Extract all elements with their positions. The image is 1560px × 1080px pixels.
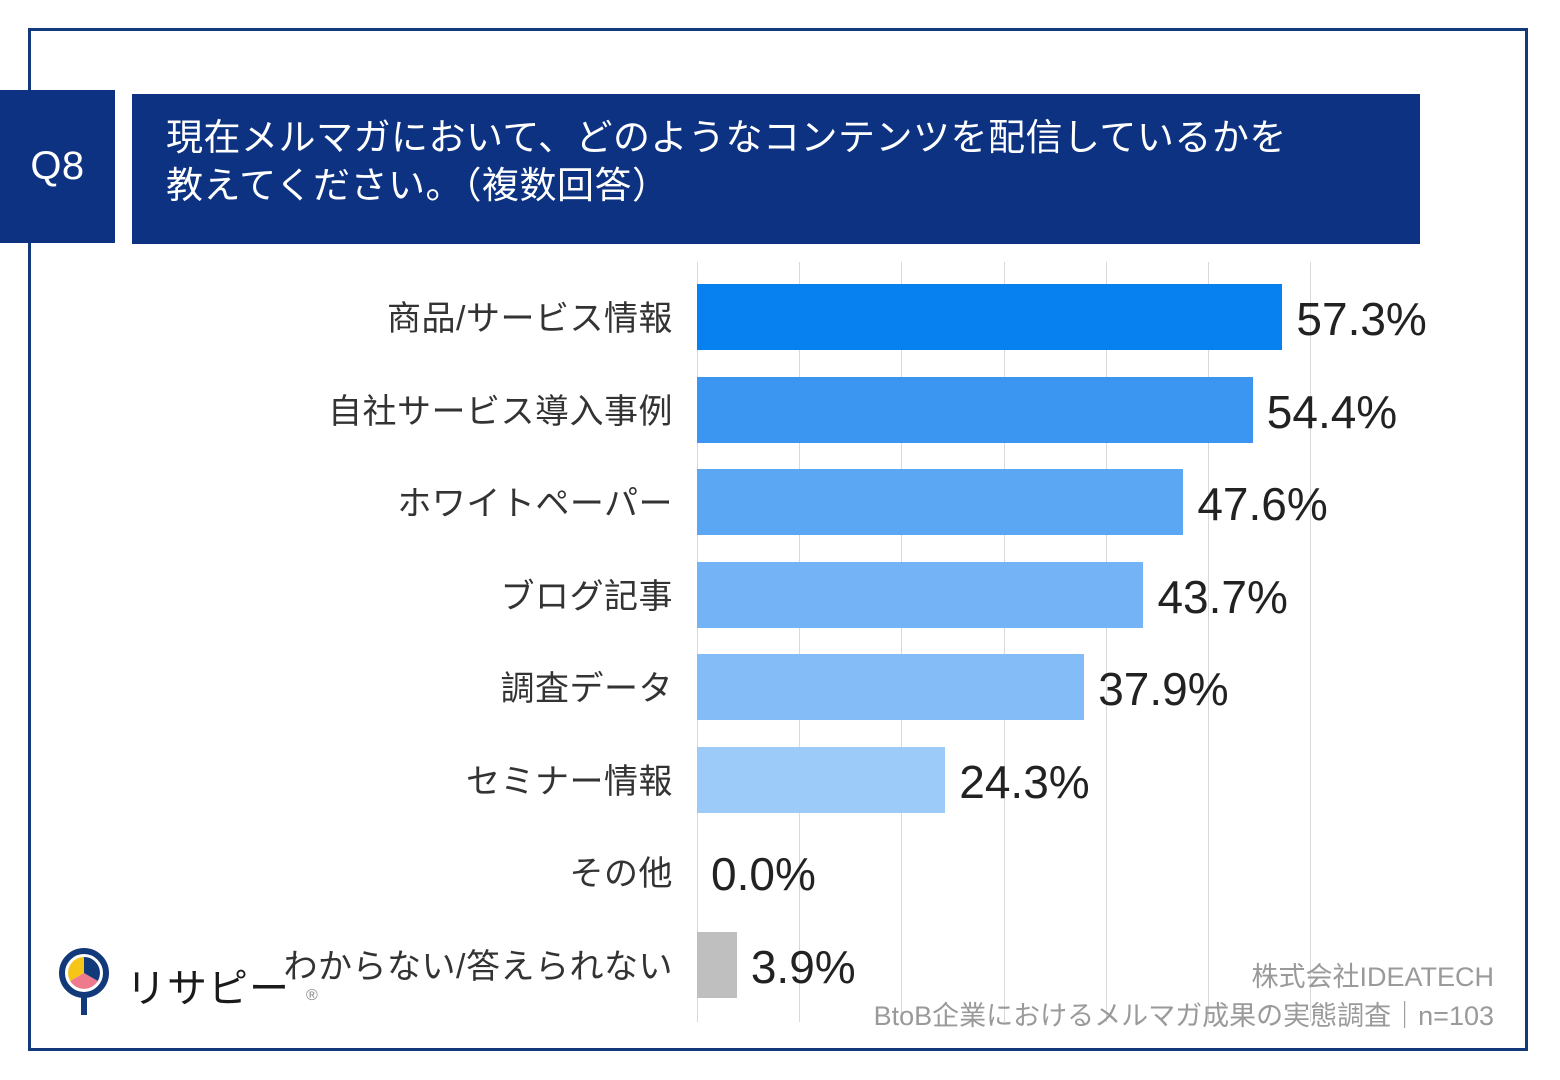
bar — [697, 377, 1253, 443]
bar — [697, 469, 1183, 535]
chart-row: セミナー情報24.3% — [0, 747, 1560, 813]
category-label: セミナー情報 — [0, 765, 673, 799]
brand-logo-text: リサピー — [126, 956, 290, 1014]
bar-chart: 商品/サービス情報57.3%自社サービス導入事例54.4%ホワイトペーパー47.… — [0, 262, 1560, 1022]
bar — [697, 654, 1084, 720]
source-credit: 株式会社IDEATECH BtoB企業におけるメルマガ成果の実態調査｜n=103 — [874, 958, 1494, 1036]
bar — [697, 932, 737, 998]
brand-logo: リサピー ® — [56, 946, 316, 1018]
question-title-bar: 現在メルマガにおいて、どのようなコンテンツを配信しているかを 教えてください。（… — [132, 94, 1420, 244]
bar-value-label: 54.4% — [1267, 389, 1397, 435]
bar-value-label: 0.0% — [711, 851, 816, 897]
bar-value-label: 24.3% — [959, 759, 1089, 805]
chart-row: 商品/サービス情報57.3% — [0, 284, 1560, 350]
bar-value-label: 43.7% — [1157, 574, 1287, 620]
category-label: ブログ記事 — [0, 580, 673, 614]
category-label: 自社サービス導入事例 — [0, 395, 673, 429]
bar-value-label: 57.3% — [1296, 296, 1426, 342]
chart-rows: 商品/サービス情報57.3%自社サービス導入事例54.4%ホワイトペーパー47.… — [0, 262, 1560, 1022]
question-number-label: Q8 — [30, 144, 84, 189]
risapy-magnifier-pie-icon — [56, 946, 112, 1018]
chart-row: 調査データ37.9% — [0, 654, 1560, 720]
category-label: 調査データ — [0, 672, 673, 706]
category-label: ホワイトペーパー — [0, 487, 673, 521]
company-name: 株式会社IDEATECH — [874, 958, 1494, 997]
brand-trademark: ® — [306, 987, 318, 1005]
bar-value-label: 37.9% — [1098, 666, 1228, 712]
bar-value-label: 3.9% — [751, 944, 856, 990]
category-label: その他 — [0, 857, 673, 891]
chart-row: ブログ記事43.7% — [0, 562, 1560, 628]
chart-row: その他0.0% — [0, 839, 1560, 905]
bar — [697, 284, 1282, 350]
survey-name: BtoB企業におけるメルマガ成果の実態調査｜n=103 — [874, 997, 1494, 1036]
bar-value-label: 47.6% — [1197, 481, 1327, 527]
chart-row: ホワイトペーパー47.6% — [0, 469, 1560, 535]
chart-row: 自社サービス導入事例54.4% — [0, 377, 1560, 443]
category-label: 商品/サービス情報 — [0, 302, 673, 336]
question-number-badge: Q8 — [0, 90, 115, 243]
question-title-text: 現在メルマガにおいて、どのようなコンテンツを配信しているかを 教えてください。（… — [166, 114, 1287, 210]
bar — [697, 562, 1143, 628]
bar — [697, 747, 945, 813]
